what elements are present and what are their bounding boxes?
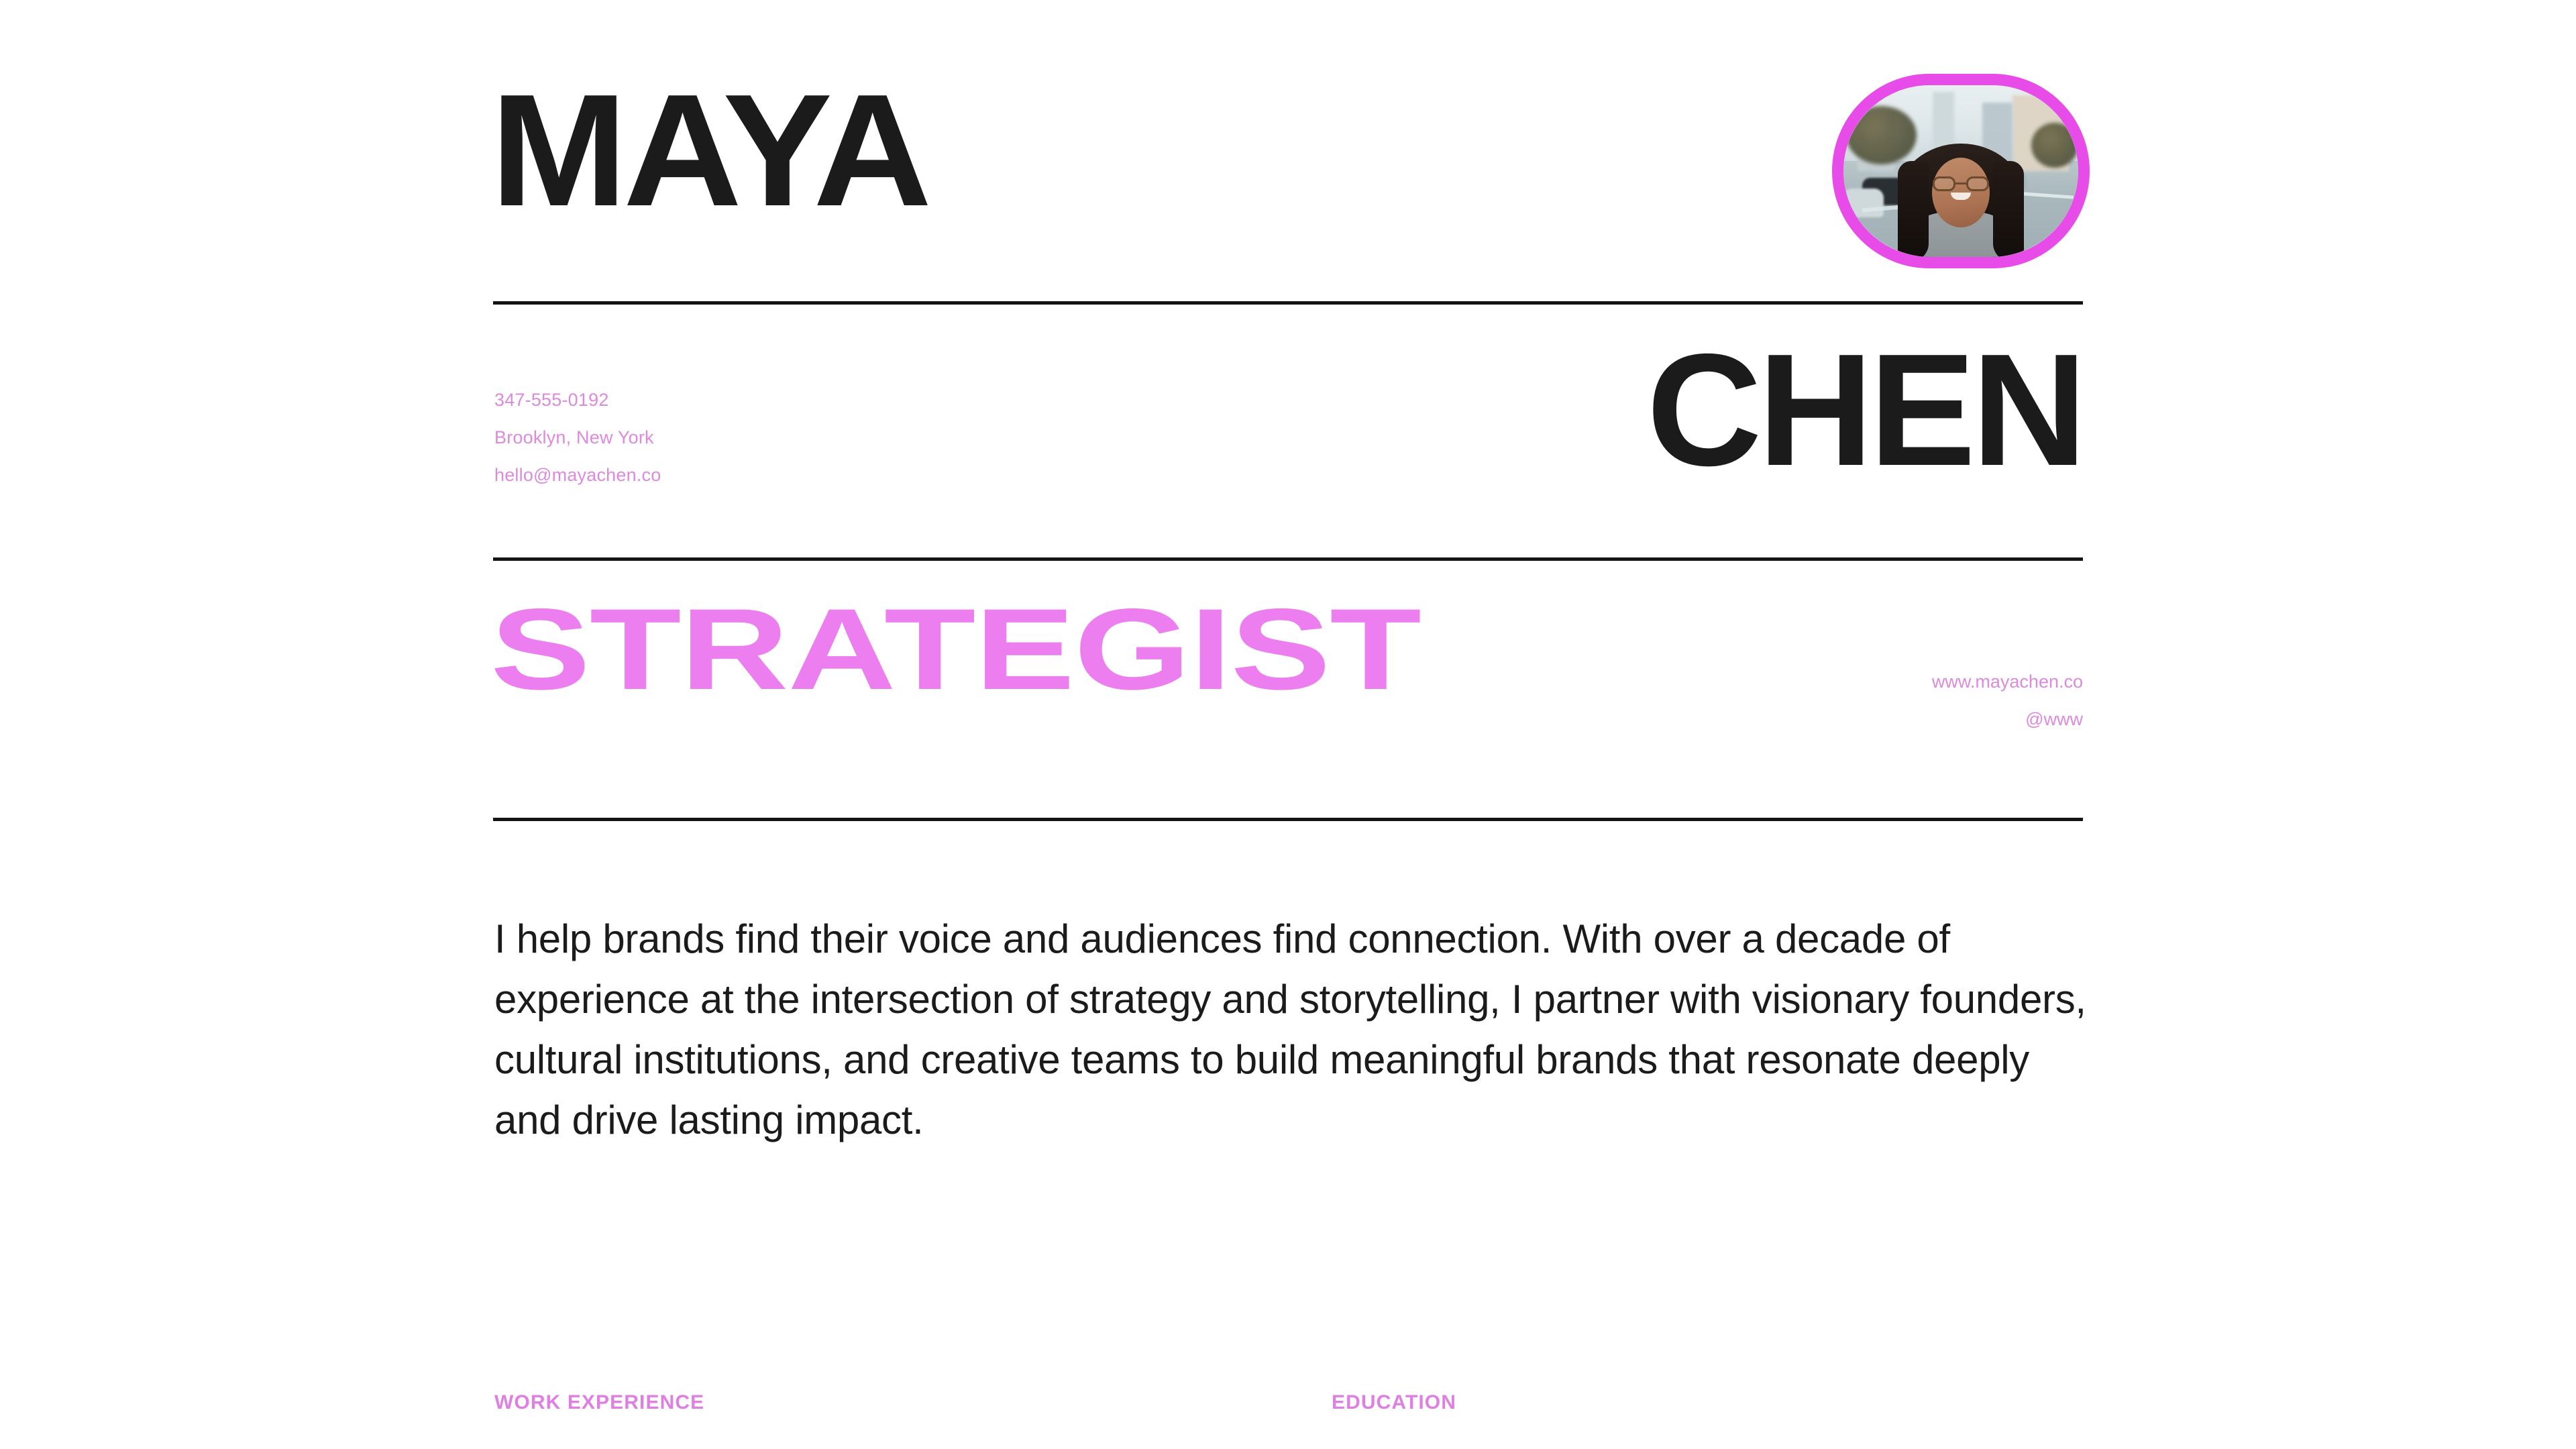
weblinks-block: www.mayachen.co @www — [1932, 663, 2083, 738]
section-heading-work-experience: WORK EXPERIENCE — [494, 1391, 704, 1414]
summary-paragraph: I help brands find their voice and audie… — [494, 909, 2091, 1150]
contact-email[interactable]: hello@mayachen.co — [494, 456, 661, 494]
divider-top — [493, 301, 2083, 305]
section-heading-education: EDUCATION — [1332, 1391, 1456, 1414]
avatar-photo — [1843, 85, 2078, 257]
glasses-icon — [1933, 176, 1989, 191]
social-handle[interactable]: @www — [1932, 700, 2083, 738]
photo-tree-left — [1846, 106, 1917, 164]
photo-hair-strand-right — [1993, 161, 2024, 257]
role-heading: STRATEGIST — [490, 600, 1421, 700]
contact-location: Brooklyn, New York — [494, 419, 661, 456]
photo-car-light — [1843, 189, 1884, 218]
avatar — [1832, 74, 2090, 268]
contact-phone[interactable]: 347-555-0192 — [494, 381, 661, 419]
resume-page: MAYA — [0, 0, 2576, 1449]
divider-middle — [493, 557, 2083, 561]
last-name-heading: CHEN — [1647, 342, 2083, 480]
divider-below-role — [493, 818, 2083, 821]
first-name-heading: MAYA — [490, 83, 928, 220]
photo-hair-strand-left — [1898, 161, 1929, 257]
contact-block: 347-555-0192 Brooklyn, New York hello@ma… — [494, 381, 661, 494]
photo-tree-right — [2031, 123, 2078, 168]
website-link[interactable]: www.mayachen.co — [1932, 663, 2083, 700]
